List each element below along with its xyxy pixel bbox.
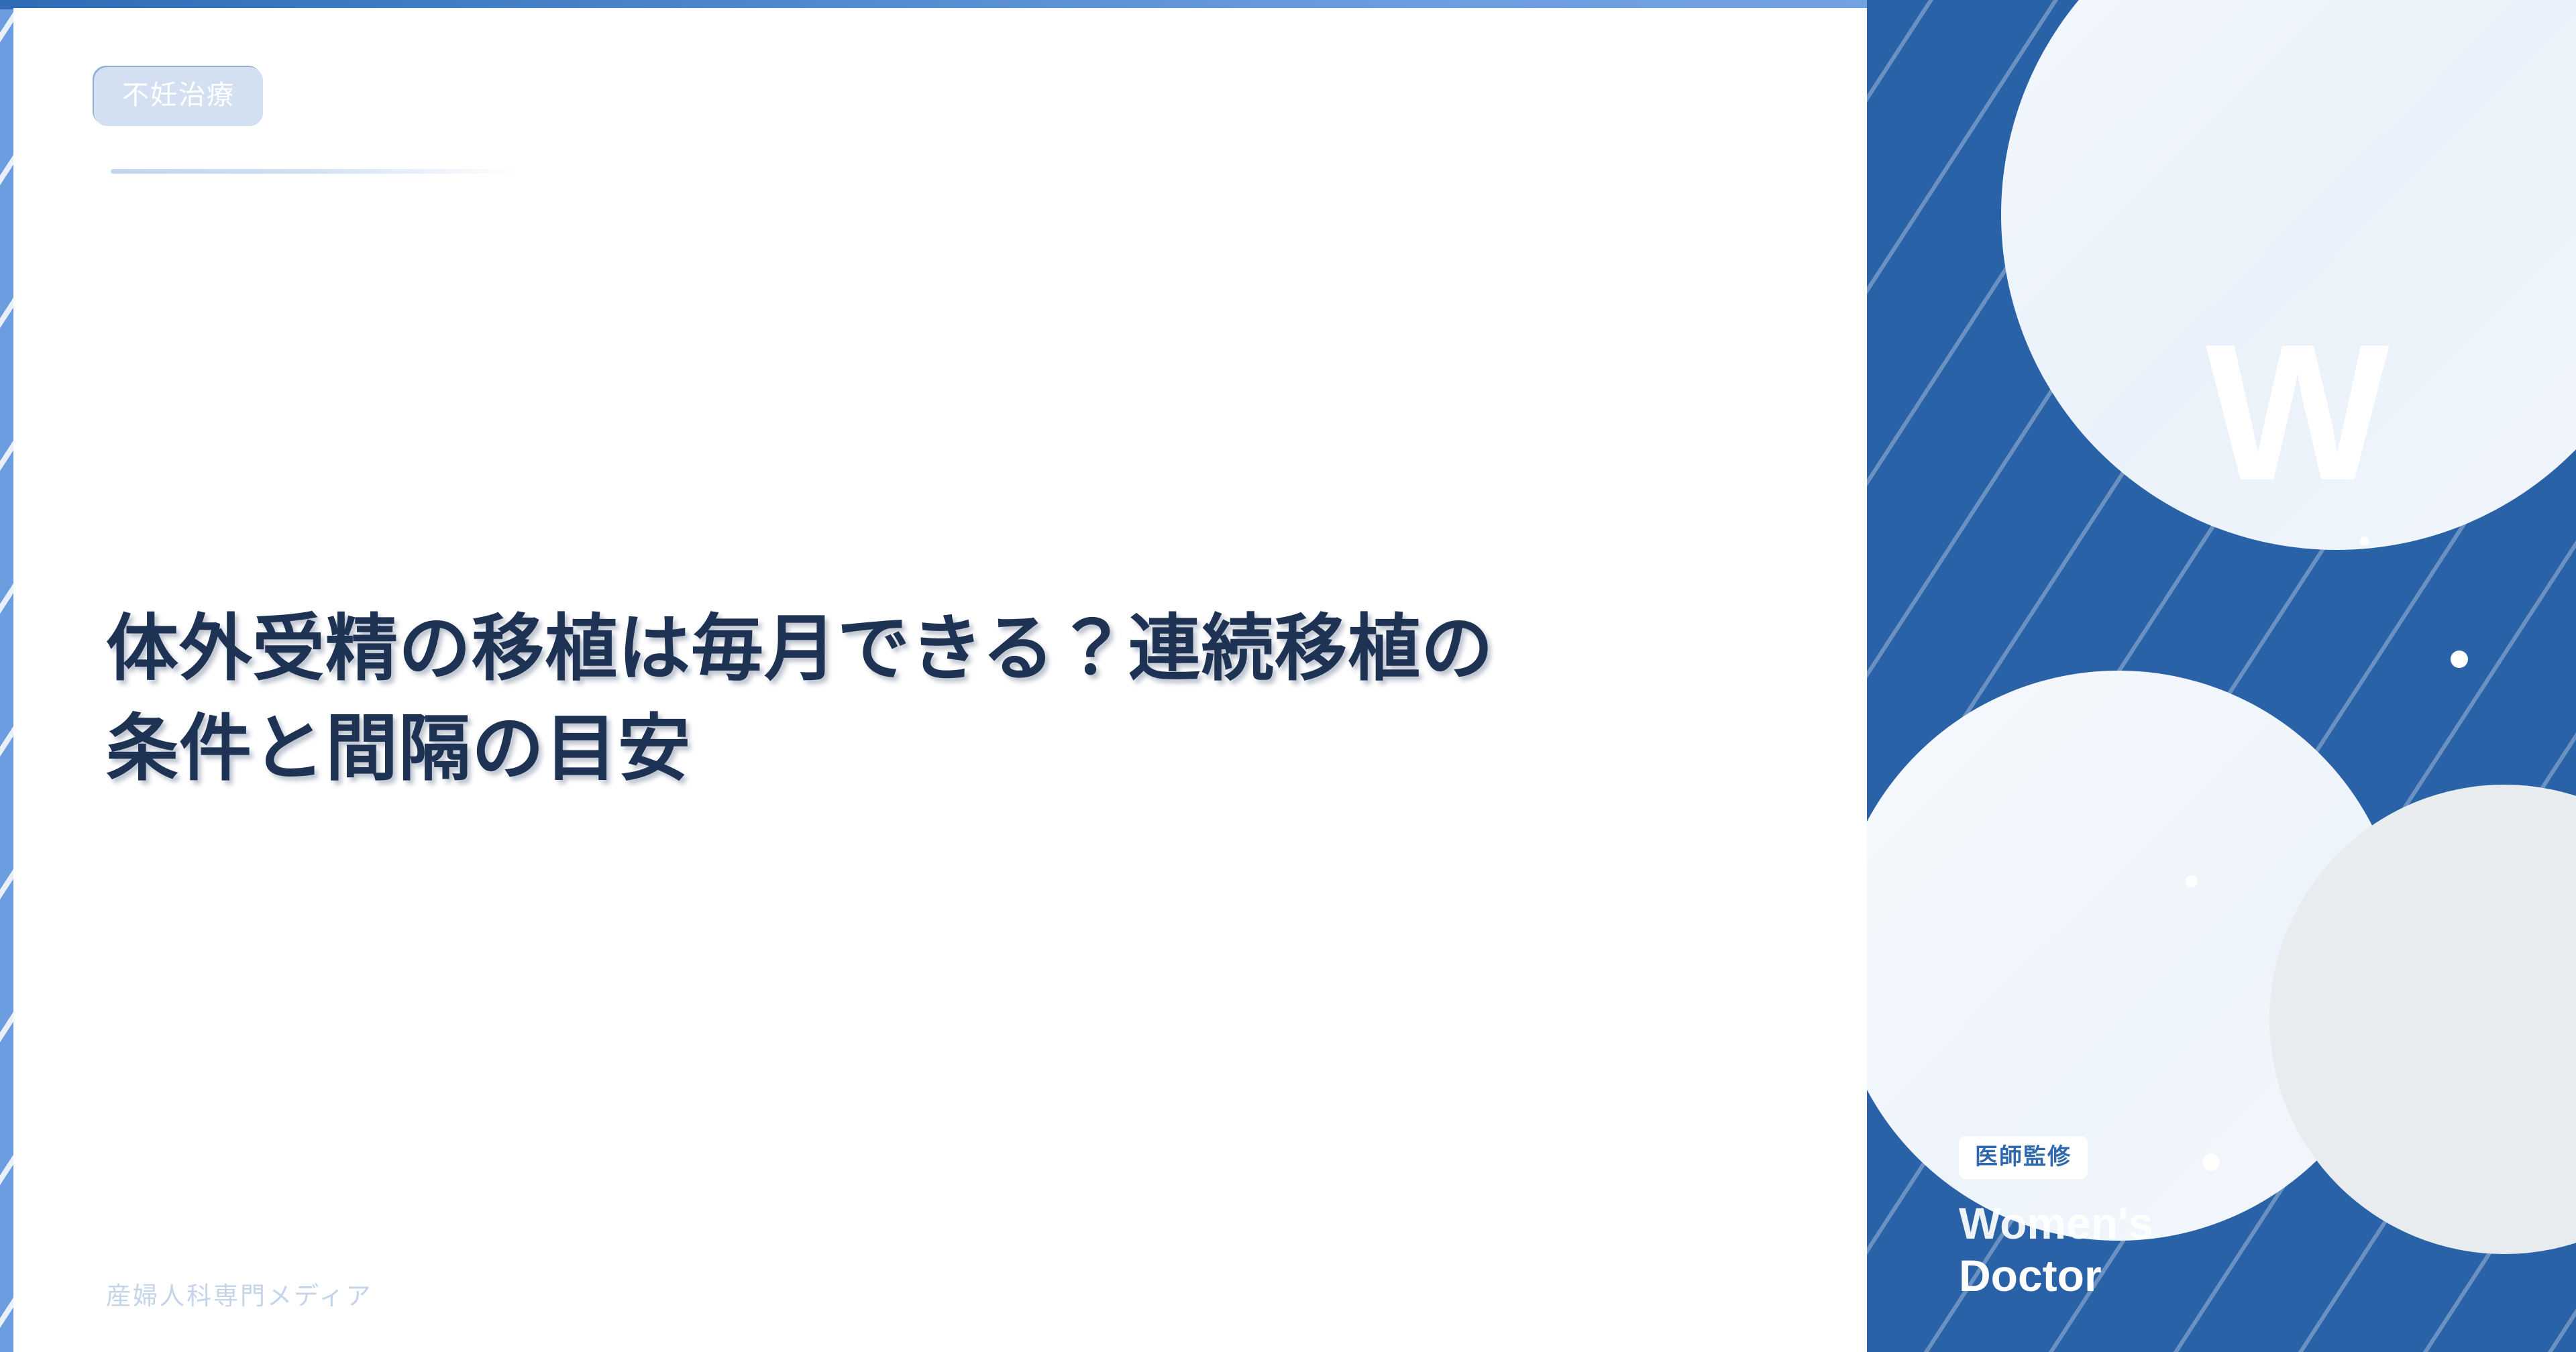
decorative-dot-2 bbox=[2451, 651, 2468, 668]
category-badge[interactable]: 不妊治療 bbox=[94, 67, 263, 126]
decorative-dot-1 bbox=[2360, 537, 2369, 546]
decorative-dot-5 bbox=[2202, 1153, 2220, 1171]
thumbnail-canvas: 不妊治療 体外受精の移植は毎月できる？連続移植の 条件と間隔の目安 産婦人科専門… bbox=[0, 0, 2576, 1352]
brand-watermark-letter: W bbox=[2206, 315, 2385, 510]
page-title-line-1: 体外受精の移植は毎月できる？連続移植の bbox=[106, 598, 1729, 698]
category-badge-wrapper: 不妊治療 bbox=[94, 67, 263, 126]
badge-divider-line bbox=[111, 169, 520, 174]
content-card: 不妊治療 体外受精の移植は毎月できる？連続移植の 条件と間隔の目安 産婦人科専門… bbox=[13, 8, 1867, 1352]
decorative-dot-3 bbox=[2186, 875, 2198, 887]
brand-panel: W 医師監修 Women's Doctor bbox=[1867, 0, 2576, 1352]
page-title: 体外受精の移植は毎月できる？連続移植の 条件と間隔の目安 bbox=[106, 598, 1729, 798]
footer-caption: 産婦人科専門メディア bbox=[106, 1276, 372, 1312]
brand-logotype: Women's Doctor bbox=[1959, 1198, 2153, 1302]
brand-logotype-line-1: Women's bbox=[1959, 1198, 2153, 1250]
supervision-badge: 医師監修 bbox=[1959, 1136, 2088, 1179]
page-title-line-2: 条件と間隔の目安 bbox=[106, 698, 1729, 798]
brand-logotype-line-2: Doctor bbox=[1959, 1250, 2153, 1302]
